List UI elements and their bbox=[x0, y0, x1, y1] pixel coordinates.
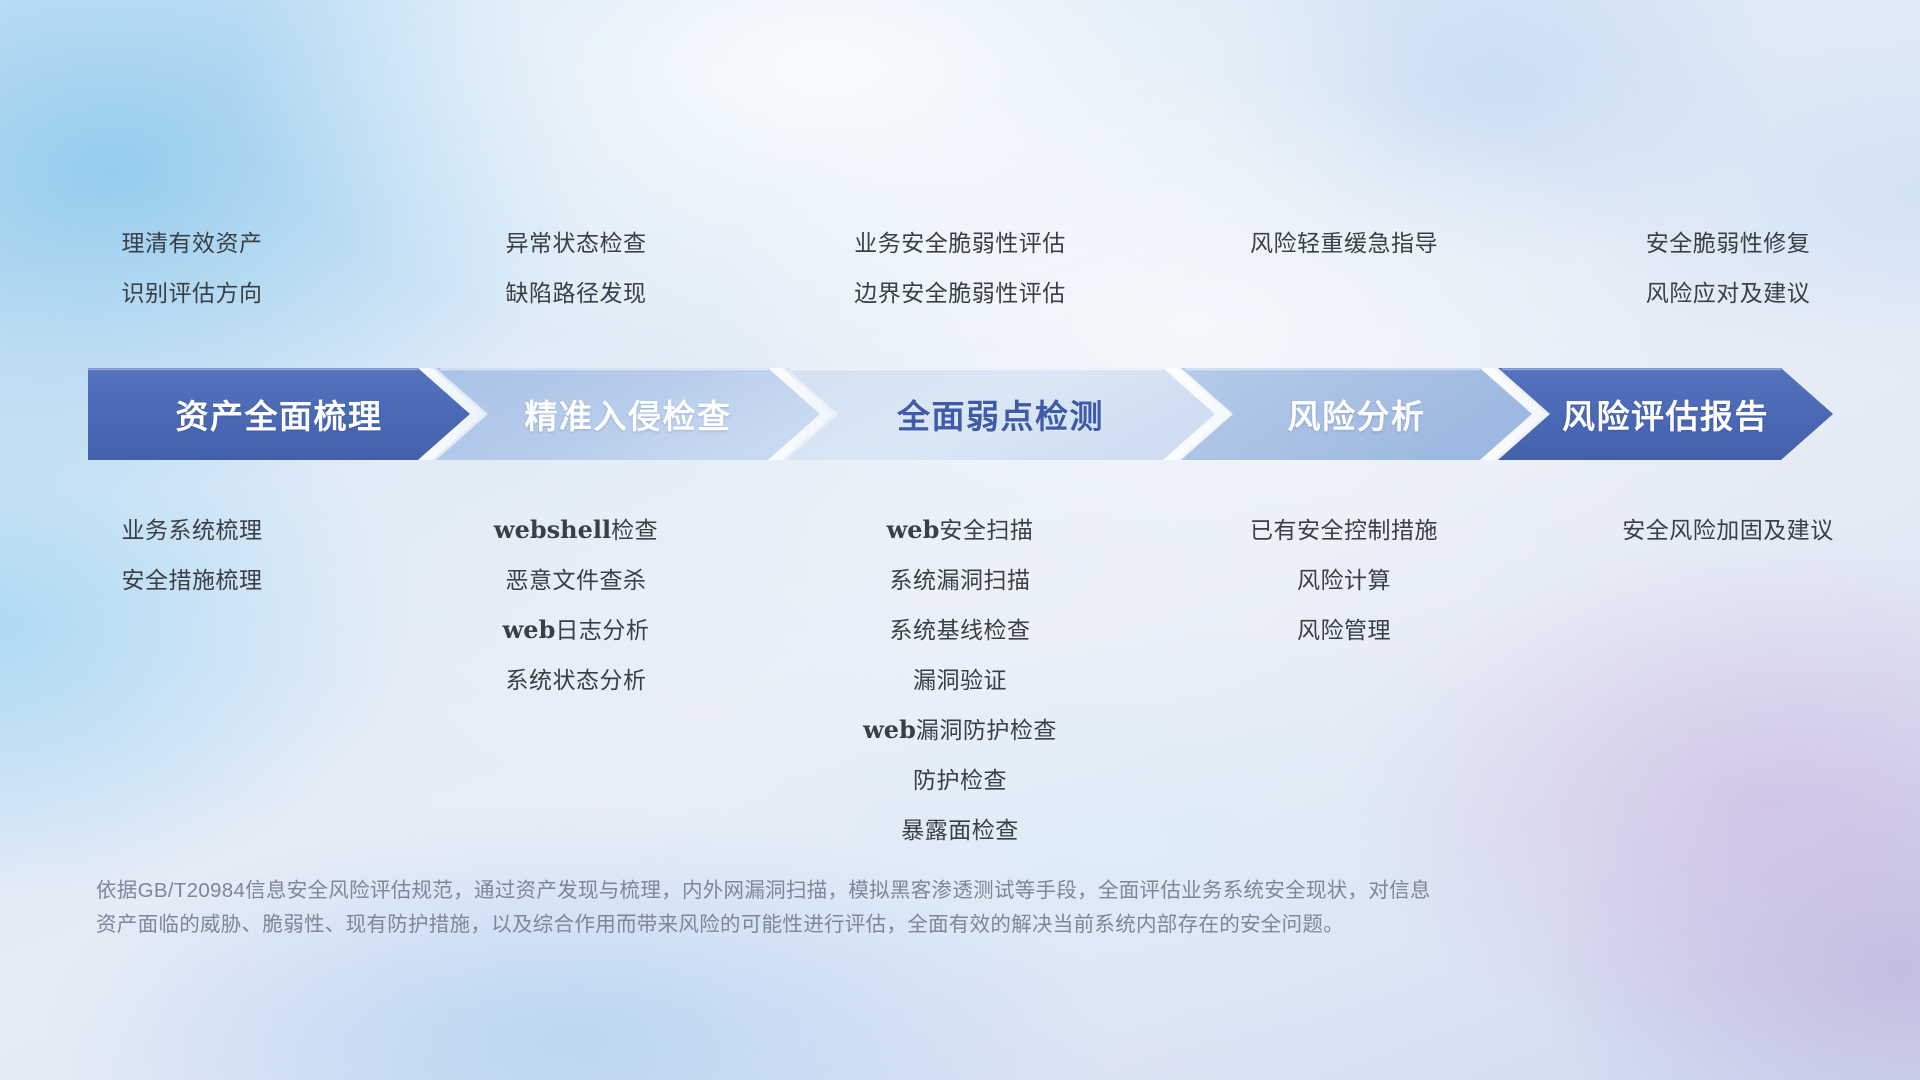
list-item: 风险轻重缓急指导 bbox=[1250, 218, 1438, 268]
list-item: 安全措施梳理 bbox=[122, 555, 263, 605]
footer-line-1: 依据GB/T20984信息安全风险评估规范，通过资产发现与梳理，内外网漏洞扫描，… bbox=[96, 874, 1656, 908]
list-item: 风险应对及建议 bbox=[1646, 268, 1811, 318]
bottom-items-stage-2: webshell检查 恶意文件查杀 web日志分析 系统状态分析 bbox=[384, 505, 768, 855]
list-item: 缺陷路径发现 bbox=[506, 268, 647, 318]
list-item: 风险管理 bbox=[1297, 605, 1391, 655]
process-arrow-band: 资产全面梳理 精准入侵检查 全面弱点检测 风险分析 风险评估报告 bbox=[88, 368, 1833, 460]
list-item: 系统基线检查 bbox=[890, 605, 1031, 655]
top-items-stage-2: 异常状态检查 缺陷路径发现 bbox=[384, 218, 768, 318]
list-item: 风险计算 bbox=[1297, 555, 1391, 605]
list-item: web日志分析 bbox=[503, 605, 650, 655]
list-item: 防护检查 bbox=[913, 755, 1007, 805]
bottom-items-stage-3: web安全扫描 系统漏洞扫描 系统基线检查 漏洞验证 web漏洞防护检查 防护检… bbox=[768, 505, 1152, 855]
list-item: 边界安全脆弱性评估 bbox=[854, 268, 1066, 318]
bottom-items-stage-5: 安全风险加固及建议 bbox=[1536, 505, 1920, 855]
list-item: 安全风险加固及建议 bbox=[1622, 505, 1834, 555]
bottom-items-stage-1: 业务系统梳理 安全措施梳理 bbox=[0, 505, 384, 855]
list-item: webshell检查 bbox=[494, 505, 658, 555]
list-item: 已有安全控制措施 bbox=[1250, 505, 1438, 555]
list-item: 系统状态分析 bbox=[506, 655, 647, 705]
list-item: 识别评估方向 bbox=[122, 268, 263, 318]
list-item: 业务系统梳理 bbox=[122, 505, 263, 555]
list-item: 异常状态检查 bbox=[506, 218, 647, 268]
list-item: web漏洞防护检查 bbox=[863, 705, 1057, 755]
list-item: 系统漏洞扫描 bbox=[890, 555, 1031, 605]
slide-canvas: 理清有效资产 识别评估方向 异常状态检查 缺陷路径发现 业务安全脆弱性评估 边界… bbox=[0, 0, 1920, 1080]
list-item: 恶意文件查杀 bbox=[506, 555, 647, 605]
top-items-row: 理清有效资产 识别评估方向 异常状态检查 缺陷路径发现 业务安全脆弱性评估 边界… bbox=[0, 218, 1920, 318]
top-items-stage-1: 理清有效资产 识别评估方向 bbox=[0, 218, 384, 318]
list-item: 理清有效资产 bbox=[122, 218, 263, 268]
footer-line-2: 资产面临的威胁、脆弱性、现有防护措施，以及综合作用而带来风险的可能性进行评估，全… bbox=[96, 908, 1656, 942]
list-item: 业务安全脆弱性评估 bbox=[854, 218, 1066, 268]
bottom-items-stage-4: 已有安全控制措施 风险计算 风险管理 bbox=[1152, 505, 1536, 855]
list-item: 安全脆弱性修复 bbox=[1646, 218, 1811, 268]
list-item: 漏洞验证 bbox=[913, 655, 1007, 705]
bottom-items-row: 业务系统梳理 安全措施梳理 webshell检查 恶意文件查杀 web日志分析 … bbox=[0, 505, 1920, 855]
list-item: web安全扫描 bbox=[887, 505, 1034, 555]
top-items-stage-5: 安全脆弱性修复 风险应对及建议 bbox=[1536, 218, 1920, 318]
top-items-stage-3: 业务安全脆弱性评估 边界安全脆弱性评估 bbox=[768, 218, 1152, 318]
footer-description: 依据GB/T20984信息安全风险评估规范，通过资产发现与梳理，内外网漏洞扫描，… bbox=[96, 874, 1656, 942]
top-items-stage-4: 风险轻重缓急指导 bbox=[1152, 218, 1536, 318]
list-item: 暴露面检查 bbox=[901, 805, 1019, 855]
